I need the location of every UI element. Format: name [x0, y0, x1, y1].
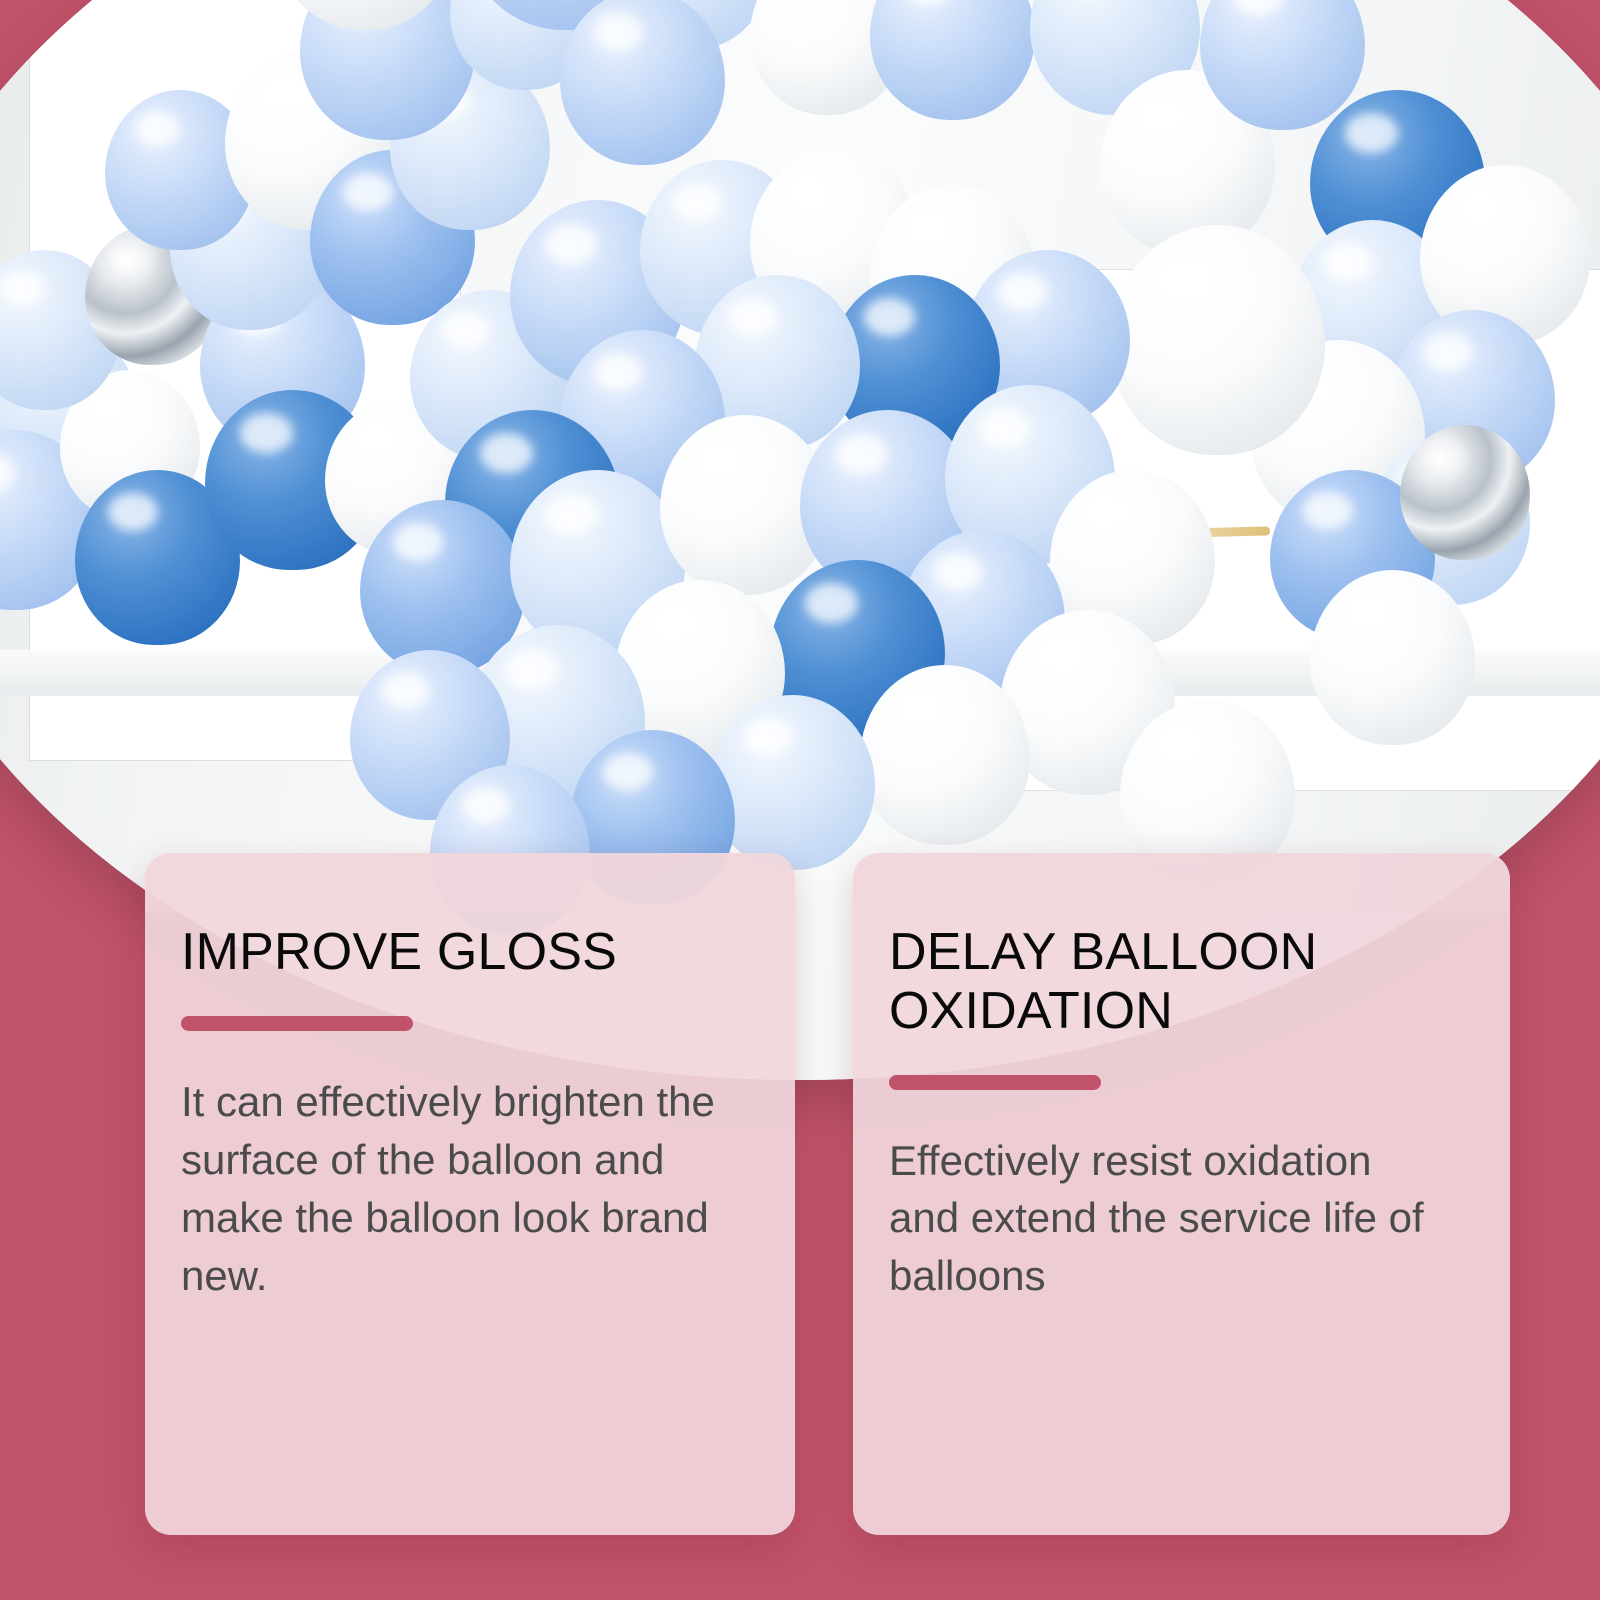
feature-card-improve-gloss: IMPROVE GLOSS It can effectively brighte… — [145, 853, 795, 1535]
feature-cards: IMPROVE GLOSS It can effectively brighte… — [0, 0, 1600, 1600]
feature-card-delay-balloon-oxidation: DELAY BALLOON OXIDATION Effectively resi… — [853, 853, 1510, 1535]
title-divider — [181, 1016, 413, 1031]
card-title: DELAY BALLOON OXIDATION — [889, 923, 1468, 1041]
title-divider — [889, 1075, 1101, 1090]
card-body-text: It can effectively brighten the surface … — [181, 1073, 721, 1305]
promo-banner: IMPROVE GLOSS It can effectively brighte… — [0, 0, 1600, 1600]
card-body-text: Effectively resist oxidation and extend … — [889, 1132, 1449, 1306]
card-title: IMPROVE GLOSS — [181, 923, 753, 982]
